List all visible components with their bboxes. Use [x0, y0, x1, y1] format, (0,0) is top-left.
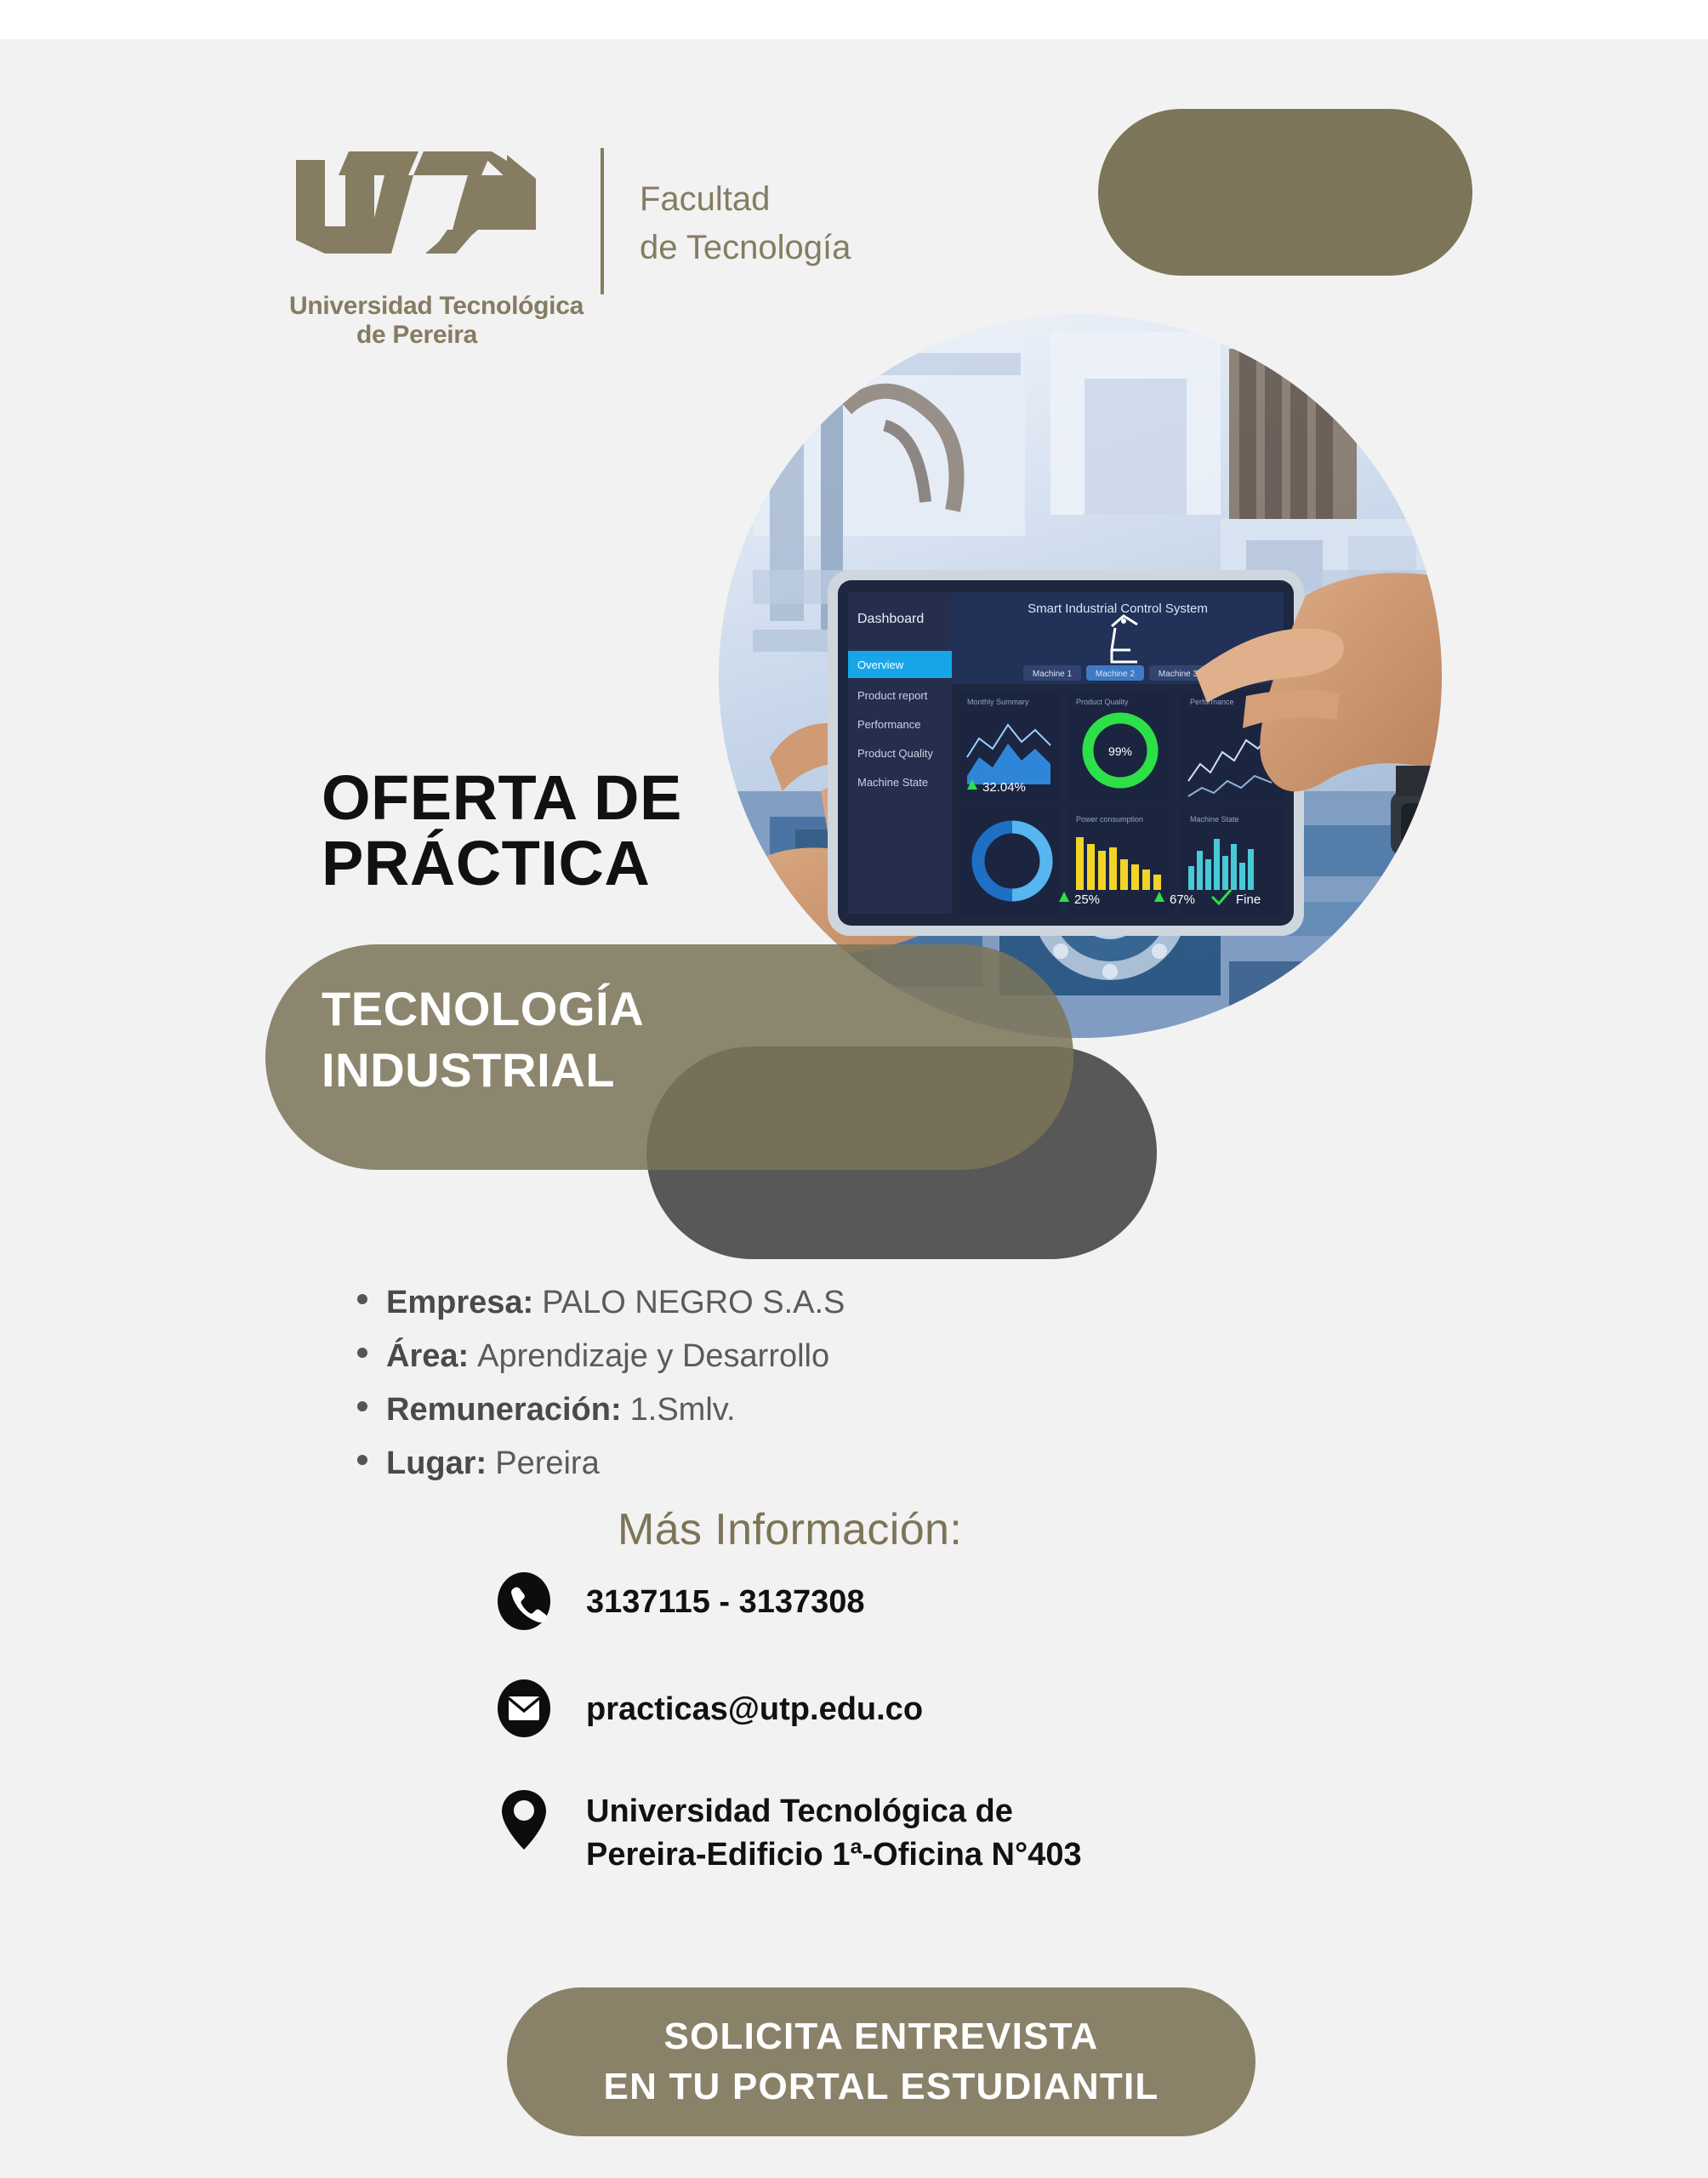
address-text: Universidad Tecnológica de Pereira-Edifi…	[586, 1787, 1082, 1878]
svg-text:Product Quality: Product Quality	[1076, 698, 1129, 706]
svg-text:Machine State: Machine State	[1190, 815, 1239, 824]
bullet-dot-icon	[357, 1455, 367, 1465]
list-item: Lugar: Pereira	[357, 1447, 845, 1480]
svg-text:32.04%: 32.04%	[982, 780, 1026, 795]
utp-logo-wordmark: Universidad Tecnológica de Pereira	[289, 292, 544, 349]
header-divider	[601, 148, 604, 294]
detail-label: Remuneración:	[386, 1394, 622, 1426]
address-line1: Universidad Tecnológica de	[586, 1793, 1013, 1829]
detail-label: Empresa:	[386, 1286, 533, 1319]
envelope-icon	[498, 1679, 550, 1737]
utp-logo-mark	[289, 145, 544, 285]
detail-value: PALO NEGRO S.A.S	[542, 1286, 845, 1319]
svg-text:Fine: Fine	[1236, 892, 1261, 907]
faculty-name: Facultad de Tecnología	[640, 175, 851, 272]
svg-text:Product report: Product report	[857, 689, 928, 702]
svg-text:Performance: Performance	[857, 718, 920, 731]
contact-row-email[interactable]: practicas@utp.edu.co	[498, 1679, 1082, 1737]
contact-row-address[interactable]: Universidad Tecnológica de Pereira-Edifi…	[498, 1787, 1082, 1878]
svg-text:Power consumption: Power consumption	[1076, 815, 1143, 824]
address-line2: Pereira-Edificio 1ª-Oficina N°403	[586, 1837, 1082, 1873]
svg-text:Machine State: Machine State	[857, 776, 928, 789]
faculty-line1: Facultad	[640, 175, 851, 224]
program-line2: INDUSTRIAL	[322, 1040, 644, 1101]
svg-text:Machine 2: Machine 2	[1096, 670, 1136, 679]
poster-root: Universidad Tecnológica de Pereira Facul…	[0, 0, 1708, 2178]
list-item: Remuneración: 1.Smlv.	[357, 1394, 845, 1426]
photo-illustration: Dashboard Overview Product report Perfor…	[719, 315, 1442, 1038]
phone-icon	[498, 1572, 550, 1630]
decorative-pill	[1098, 109, 1472, 276]
top-white-strip	[0, 0, 1708, 39]
detail-value: Aprendizaje y Desarrollo	[477, 1340, 829, 1372]
svg-text:Overview: Overview	[857, 659, 904, 671]
list-item: Área: Aprendizaje y Desarrollo	[357, 1340, 845, 1372]
detail-label: Área:	[386, 1340, 469, 1372]
svg-text:Machine 1: Machine 1	[1033, 670, 1073, 679]
more-info-heading: Más Información:	[618, 1504, 962, 1555]
offer-details-list: Empresa: PALO NEGRO S.A.S Área: Aprendiz…	[357, 1286, 845, 1501]
brand-header: Universidad Tecnológica de Pereira Facul…	[289, 145, 851, 349]
page-title: OFERTA DE PRÁCTICA	[322, 766, 682, 897]
list-item: Empresa: PALO NEGRO S.A.S	[357, 1286, 845, 1319]
detail-label: Lugar:	[386, 1447, 487, 1480]
svg-text:Machine 3: Machine 3	[1159, 670, 1198, 679]
svg-text:99%: 99%	[1108, 744, 1132, 758]
phone-number: 3137115 - 3137308	[586, 1572, 865, 1624]
page-title-line1: OFERTA DE	[322, 766, 682, 831]
cta-line2: EN TU PORTAL ESTUDIANTIL	[604, 2062, 1159, 2112]
contact-row-phone[interactable]: 3137115 - 3137308	[498, 1572, 1082, 1630]
contact-block: 3137115 - 3137308 practicas@utp.edu.co	[498, 1572, 1082, 1927]
detail-value: Pereira	[495, 1447, 600, 1480]
svg-text:67%: 67%	[1170, 892, 1195, 907]
svg-text:Product Quality: Product Quality	[857, 747, 933, 760]
bullet-dot-icon	[357, 1294, 367, 1304]
utp-logo: Universidad Tecnológica de Pereira	[289, 145, 561, 349]
faculty-line2: de Tecnología	[640, 224, 851, 272]
svg-text:Smart Industrial Control Syste: Smart Industrial Control System	[1028, 602, 1208, 616]
page-title-line2: PRÁCTICA	[322, 831, 682, 897]
email-address: practicas@utp.edu.co	[586, 1679, 923, 1731]
cta-line1: SOLICITA ENTREVISTA	[664, 2012, 1099, 2061]
svg-text:Dashboard: Dashboard	[857, 612, 924, 626]
program-banner-text: TECNOLOGÍA INDUSTRIAL	[322, 978, 644, 1100]
industrial-tablet-photo: Dashboard Overview Product report Perfor…	[719, 315, 1442, 1038]
detail-value: 1.Smlv.	[630, 1394, 736, 1426]
svg-text:Monthly Summary: Monthly Summary	[967, 698, 1029, 706]
bullet-dot-icon	[357, 1348, 367, 1358]
program-line1: TECNOLOGÍA	[322, 978, 644, 1040]
svg-text:25%: 25%	[1074, 892, 1100, 907]
logo-name-line2: de Pereira	[289, 321, 544, 350]
logo-name-line1: Universidad Tecnológica	[289, 292, 544, 321]
map-pin-icon	[498, 1787, 550, 1844]
request-interview-button[interactable]: SOLICITA ENTREVISTA EN TU PORTAL ESTUDIA…	[507, 1987, 1255, 2136]
bullet-dot-icon	[357, 1401, 367, 1411]
